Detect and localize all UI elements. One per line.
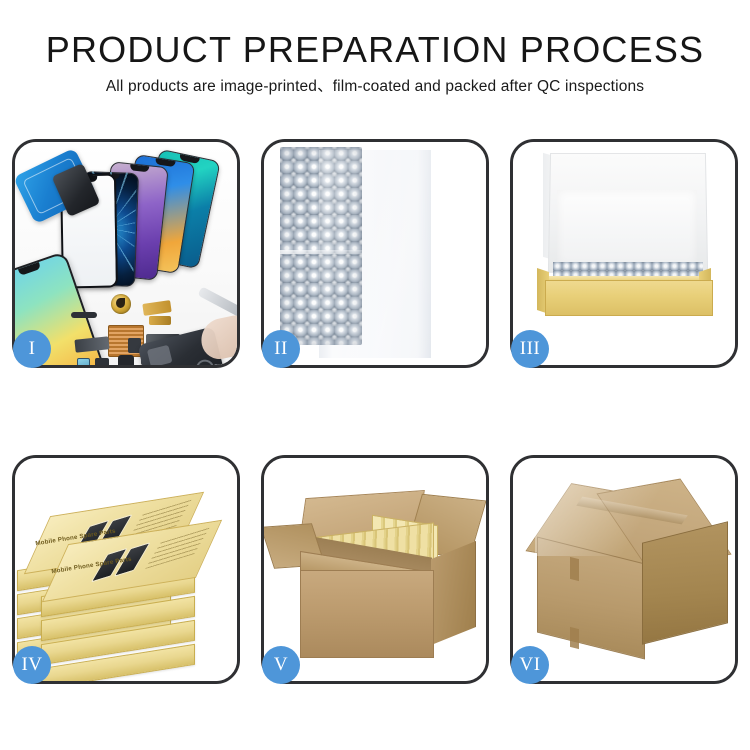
retail-box-stack: Mobile Phone Spare Parts Mobile Phone Sp…	[15, 458, 237, 681]
header: PRODUCT PREPARATION PROCESS All products…	[0, 28, 750, 98]
earpiece-bar-part	[71, 312, 97, 318]
carton-tape-mark-bottom	[570, 627, 579, 649]
step-badge-1: I	[13, 330, 51, 368]
step-panel-4: Mobile Phone Spare Parts Mobile Phone Sp…	[12, 455, 240, 684]
page-subtitle: All products are image-printed、film-coat…	[0, 76, 750, 98]
step-6-image	[513, 458, 735, 681]
step-1-image	[15, 142, 237, 365]
speaker-coil-part	[111, 294, 131, 314]
box-spec-lines-front	[145, 524, 211, 569]
step-badge-4: IV	[13, 646, 51, 684]
product-preparation-infographic: PRODUCT PREPARATION PROCESS All products…	[0, 0, 750, 750]
camera-module-part	[95, 358, 109, 365]
step-2-image	[264, 142, 486, 365]
white-foam-liner	[557, 190, 697, 266]
bubble-wrap-highlights	[280, 147, 362, 345]
vibration-motor-part	[118, 355, 134, 365]
step-3-image	[513, 142, 735, 365]
step-panel-1: I	[12, 139, 240, 368]
step-4-image: Mobile Phone Spare Parts Mobile Phone Sp…	[15, 458, 237, 681]
pouch-seam	[280, 250, 362, 254]
carton-right-side	[431, 541, 476, 645]
step-badge-5: V	[262, 646, 300, 684]
screws-group	[201, 364, 231, 365]
step-badge-2: II	[262, 330, 300, 368]
carton-front-face	[300, 570, 434, 658]
step-badge-6: VI	[511, 646, 549, 684]
gold-flex-cable-part-2	[149, 316, 171, 325]
page-title: PRODUCT PREPARATION PROCESS	[0, 28, 750, 72]
step-panel-2: II	[261, 139, 489, 368]
step-badge-3: III	[511, 330, 549, 368]
step-panel-3: III	[510, 139, 738, 368]
step-panel-5: V	[261, 455, 489, 684]
process-steps-grid: I II	[12, 139, 738, 684]
sim-tray-part	[77, 358, 90, 365]
sealed-carton-right-face	[642, 521, 728, 644]
carton-tape-mark-top	[570, 557, 579, 581]
mailer-box-front	[545, 280, 713, 316]
step-panel-6: VI	[510, 455, 738, 684]
step-5-image	[264, 458, 486, 681]
